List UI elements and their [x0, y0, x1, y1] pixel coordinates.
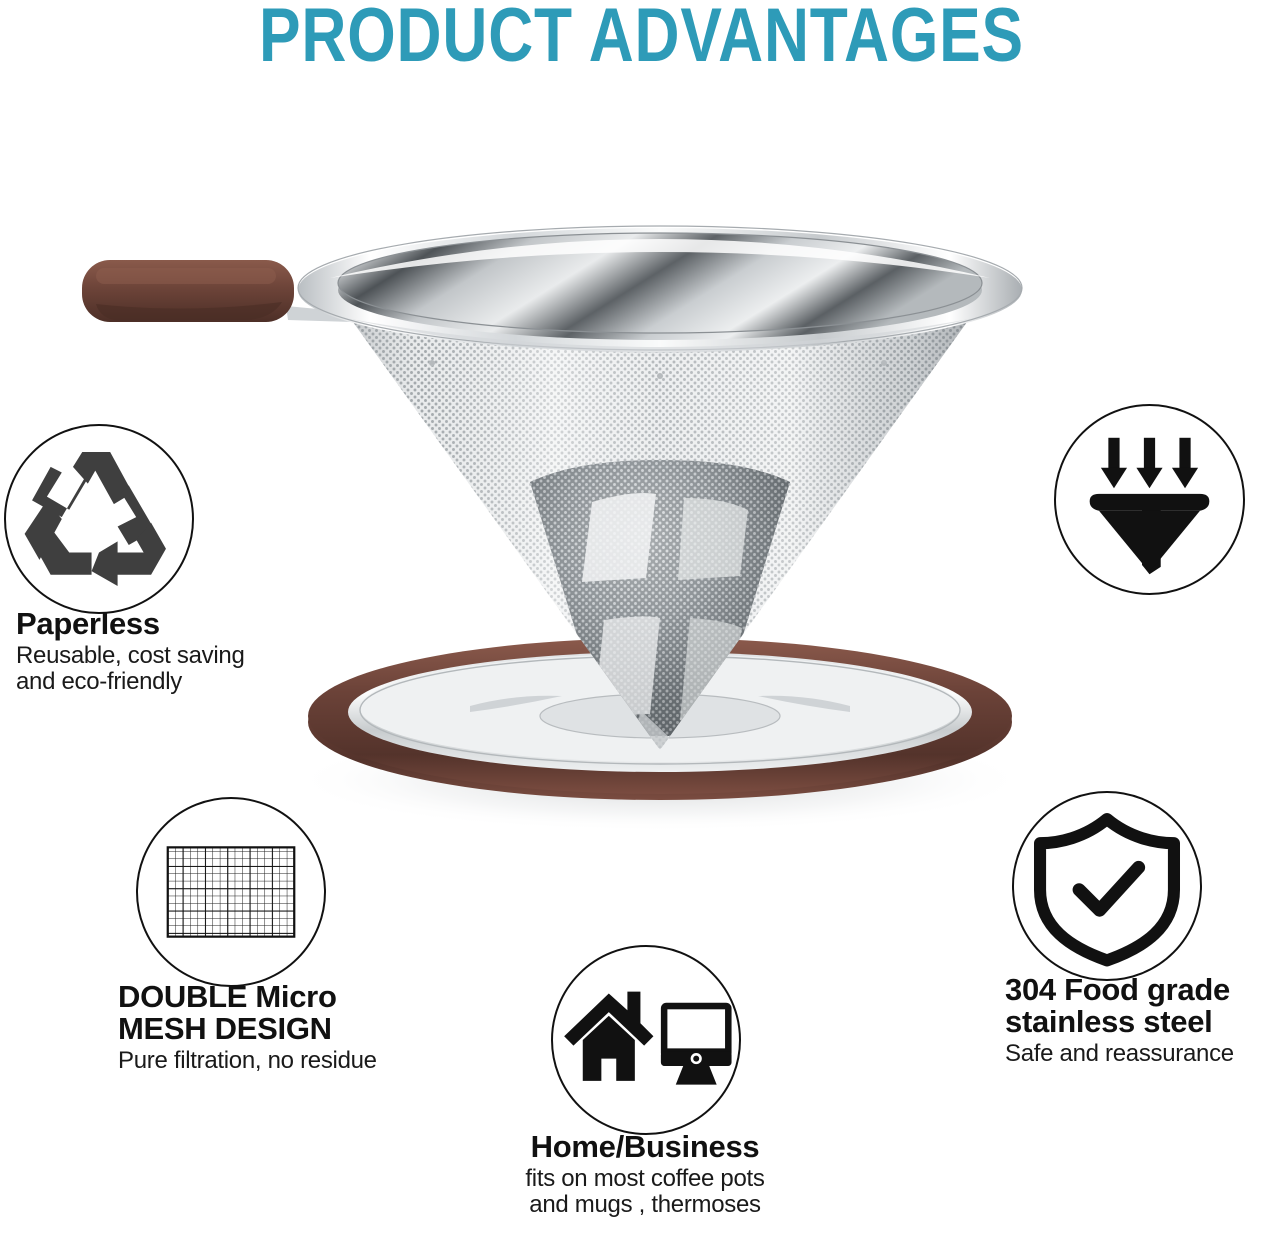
feature-subtitle: Reusable, cost saving and eco-friendly [16, 643, 316, 694]
feature-title: Paperless [16, 608, 316, 640]
feature-text-food-grade-stainless-steel: 304 Food grade stainless steel Safe and … [1005, 974, 1281, 1067]
shield-check-icon [1012, 791, 1202, 981]
feature-subtitle: Safe and reassurance [1005, 1041, 1281, 1067]
feature-title: Home/Business [490, 1131, 800, 1163]
feature-text-paperless: Paperless Reusable, cost saving and eco-… [16, 608, 316, 695]
house-monitor-icon [551, 945, 741, 1135]
product-shadow [290, 728, 1030, 832]
feature-title: 304 Food grade stainless steel [1005, 974, 1281, 1038]
cone-filter [298, 226, 1022, 750]
feature-subtitle: Pure filtration, no residue [118, 1048, 448, 1074]
mesh-grid-icon [136, 797, 326, 987]
page-title: PRODUCT ADVANTAGES [115, 0, 1167, 78]
silicone-handle [82, 260, 352, 322]
feature-text-home-business: Home/Business fits on most coffee pots a… [490, 1131, 800, 1218]
base-assembly [308, 638, 1012, 800]
feature-subtitle: fits on most coffee pots and mugs , ther… [490, 1166, 800, 1217]
feature-text-double-micro-mesh-design: DOUBLE Micro MESH DESIGN Pure filtration… [118, 981, 448, 1074]
recycle-icon [4, 424, 194, 614]
funnel-icon [1054, 404, 1245, 595]
feature-title: DOUBLE Micro MESH DESIGN [118, 981, 448, 1045]
